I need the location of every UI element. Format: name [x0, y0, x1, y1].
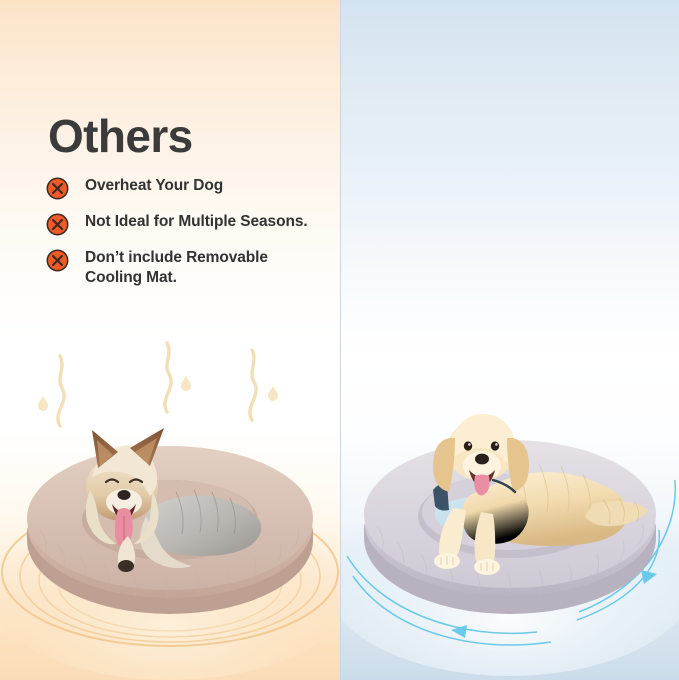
cross-circle-icon: [46, 213, 69, 236]
panel-others: Others Overheat Your Dog: [0, 0, 340, 680]
panel-ours: Ours Keep your dog cool and fresh and av…: [340, 0, 679, 680]
list-item: Overheat Your Dog: [46, 176, 326, 200]
cross-circle-icon: [46, 177, 69, 200]
list-item-label: Don’t include Removable Cooling Mat.: [85, 248, 325, 289]
list-item: Not Ideal for Multiple Seasons.: [46, 212, 326, 236]
list-item-label: Not Ideal for Multiple Seasons.: [85, 212, 308, 232]
photo-ours-cooling-dog-bed: [341, 340, 679, 680]
photo-others-overheating-dog-bed: [0, 340, 340, 680]
others-feature-list: Overheat Your Dog Not Ideal for Multiple…: [46, 176, 326, 301]
comparison-infographic: Others Overheat Your Dog: [0, 0, 679, 680]
panel-others-heading: Others: [48, 113, 193, 159]
cross-circle-icon: [46, 249, 69, 272]
list-item: Don’t include Removable Cooling Mat.: [46, 248, 326, 289]
list-item-label: Overheat Your Dog: [85, 176, 223, 196]
